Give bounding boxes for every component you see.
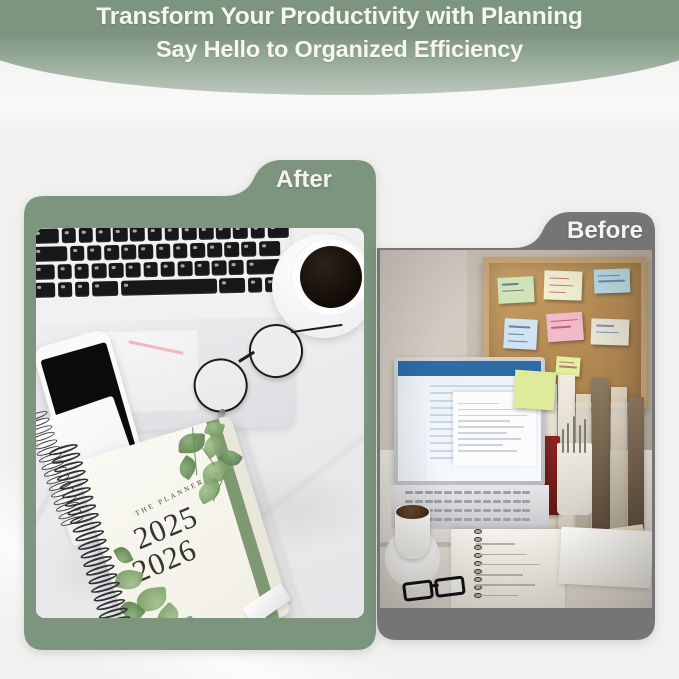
spiral-ring (474, 529, 482, 534)
header-banner: Transform Your Productivity with Plannin… (0, 0, 679, 95)
headline-line-1: Transform Your Productivity with Plannin… (0, 0, 679, 33)
keyboard-key[interactable] (91, 263, 106, 278)
before-keyboard-key[interactable] (454, 500, 462, 503)
open-notebook (451, 529, 565, 608)
handwriting-line (551, 326, 571, 329)
handwriting-line (549, 278, 569, 280)
spiral-ring (474, 545, 482, 550)
keyboard-key[interactable] (229, 260, 244, 275)
handwriting-line (508, 332, 524, 334)
sticky-note (543, 271, 582, 301)
header-text-block: Transform Your Productivity with Plannin… (0, 0, 679, 66)
keyboard-key[interactable] (190, 243, 205, 258)
keyboard-row (36, 277, 280, 298)
before-keyboard-key[interactable] (474, 509, 482, 512)
keyboard-key[interactable] (147, 228, 162, 241)
mug-coffee (396, 505, 429, 519)
keyboard-key[interactable] (219, 278, 245, 294)
comparison-infographic: Transform Your Productivity with Plannin… (0, 0, 679, 679)
keyboard-key[interactable] (259, 241, 280, 257)
handwriting-line (551, 319, 578, 322)
email-body-line (458, 415, 528, 417)
keyboard-key[interactable] (224, 242, 239, 257)
before-keyboard-key[interactable] (522, 500, 530, 503)
sticky-note-on-screen (513, 370, 557, 411)
file-holder (628, 397, 644, 529)
before-keyboard-key[interactable] (454, 491, 462, 494)
email-body-line (458, 444, 504, 446)
spiral-ring (474, 537, 482, 542)
keyboard-key[interactable] (126, 262, 141, 277)
paper-stack (558, 527, 652, 589)
sticky-note (593, 268, 630, 293)
keyboard-key[interactable] (156, 244, 171, 259)
keyboard-key[interactable] (195, 261, 210, 276)
file-holder (611, 387, 627, 529)
before-keyboard-key[interactable] (503, 509, 511, 512)
before-keyboard-key[interactable] (513, 500, 521, 503)
keyboard-key[interactable] (36, 228, 59, 244)
before-keyboard-key[interactable] (483, 518, 491, 521)
before-keyboard-key[interactable] (425, 500, 433, 503)
email-body-line (458, 426, 525, 428)
email-sidebar (398, 376, 427, 481)
keyboard-key[interactable] (199, 228, 214, 240)
keyboard-key[interactable] (70, 246, 85, 261)
before-keyboard-key[interactable] (464, 509, 472, 512)
handwriting-line (598, 274, 620, 276)
before-tab-label: Before (567, 217, 643, 245)
email-body-line (458, 409, 514, 411)
before-keyboard-key[interactable] (415, 491, 423, 494)
keyboard-key[interactable] (36, 282, 55, 298)
before-keyboard-key[interactable] (425, 491, 433, 494)
keyboard-key[interactable] (241, 242, 256, 257)
keyboard-key[interactable] (173, 243, 188, 258)
before-keyboard-key[interactable] (513, 491, 521, 494)
pen-in-cup (562, 429, 564, 453)
keyboard-key[interactable] (216, 228, 231, 240)
file-holder (592, 378, 609, 529)
before-keyboard-key[interactable] (483, 509, 491, 512)
before-keyboard-key[interactable] (493, 500, 501, 503)
before-panel[interactable]: Before (377, 178, 655, 640)
keyboard-key[interactable] (36, 264, 55, 280)
before-keyboard-key[interactable] (464, 518, 472, 521)
before-photo (380, 250, 652, 608)
before-keyboard-key[interactable] (503, 500, 511, 503)
before-keyboard-key[interactable] (522, 509, 530, 512)
keyboard-key[interactable] (36, 246, 67, 262)
keyboard-key[interactable] (250, 228, 265, 239)
before-keyboard-key[interactable] (474, 491, 482, 494)
before-keyboard-key[interactable] (474, 518, 482, 521)
coffee-liquid (300, 246, 362, 308)
keyboard-key[interactable] (130, 228, 145, 242)
keyboard-key[interactable] (104, 245, 119, 260)
email-body-line (458, 450, 518, 452)
before-keyboard-key[interactable] (503, 491, 511, 494)
before-keyboard-key[interactable] (503, 518, 511, 521)
before-keyboard-key[interactable] (493, 518, 501, 521)
handwriting-line (595, 331, 618, 333)
before-keyboard-key[interactable] (483, 500, 491, 503)
keyboard-key[interactable] (92, 281, 118, 297)
sticky-note (546, 312, 584, 342)
before-keyboard-key[interactable] (454, 518, 462, 521)
pen-cup (557, 443, 592, 515)
before-lens-left (402, 579, 434, 602)
keyboard-key[interactable] (75, 282, 90, 297)
sticky-note (590, 318, 629, 346)
before-laptop (391, 357, 549, 529)
laptop-keyboard (36, 228, 282, 323)
after-tab-label: After (276, 166, 332, 194)
keyboard-key[interactable] (138, 244, 153, 259)
before-keyboard-key[interactable] (444, 491, 452, 494)
keyboard-key[interactable] (120, 279, 216, 296)
keyboard-key[interactable] (121, 244, 136, 259)
handwriting-line (595, 324, 614, 326)
keyboard-key[interactable] (109, 263, 124, 278)
keyboard-key[interactable] (267, 228, 288, 238)
handwriting-line (503, 289, 524, 292)
keyboard-key[interactable] (207, 242, 222, 257)
keyboard-key[interactable] (212, 260, 227, 275)
before-keyboard-key[interactable] (434, 491, 442, 494)
before-keyboard-key[interactable] (493, 491, 501, 494)
pen-in-cup (573, 416, 575, 453)
keyboard-key[interactable] (164, 228, 179, 241)
notebook-spiral (474, 529, 482, 603)
notebook-line (476, 595, 518, 596)
sticky-note (498, 276, 536, 304)
pen-in-cup (579, 425, 581, 453)
keyboard-key[interactable] (160, 262, 175, 277)
email-body-line (458, 403, 500, 405)
handwriting-line (559, 361, 574, 363)
spiral-ring (474, 577, 482, 582)
after-panel[interactable]: After (24, 148, 376, 650)
keyboard-key[interactable] (87, 245, 102, 260)
handwriting-line (508, 340, 528, 342)
handwriting-line (509, 325, 531, 328)
before-keyboard-key[interactable] (474, 500, 482, 503)
before-keyboard-key[interactable] (415, 500, 423, 503)
before-keyboard-key[interactable] (493, 509, 501, 512)
keyboard-key[interactable] (78, 228, 93, 243)
notebook-line (476, 574, 523, 575)
before-keyboard-key[interactable] (464, 491, 472, 494)
sticky-note (504, 318, 539, 350)
handwriting-line (502, 283, 519, 285)
keyboard-key[interactable] (233, 228, 248, 239)
before-keyboard-key[interactable] (513, 509, 521, 512)
handwriting-line (598, 280, 625, 282)
before-keyboard-key[interactable] (405, 500, 413, 503)
before-keyboard-key[interactable] (434, 518, 442, 521)
keyboard-key[interactable] (96, 228, 111, 242)
keyboard-row (36, 259, 280, 280)
notebook-line (476, 543, 515, 544)
email-body-line (458, 432, 507, 434)
email-body-line (458, 420, 510, 422)
before-keyboard-key[interactable] (434, 509, 442, 512)
after-photo: THE PLANNER OF 2025 2026 (36, 228, 364, 618)
spiral-ring (474, 585, 482, 590)
notebook-line (476, 554, 527, 555)
before-keyboard-key[interactable] (522, 491, 530, 494)
keyboard-key[interactable] (57, 264, 72, 279)
before-keyboard-key[interactable] (464, 500, 472, 503)
before-keyboard-key[interactable] (405, 491, 413, 494)
before-keyboard-key[interactable] (522, 518, 530, 521)
before-keyboard-key[interactable] (513, 518, 521, 521)
coffee-mug (385, 529, 439, 586)
keyboard-key[interactable] (248, 277, 263, 292)
before-keyboard-key[interactable] (454, 509, 462, 512)
keyboard-key[interactable] (58, 282, 73, 297)
before-keyboard-key[interactable] (444, 518, 452, 521)
before-keyboard-key[interactable] (444, 500, 452, 503)
keyboard-key[interactable] (143, 262, 158, 277)
keyboard-row (36, 241, 280, 262)
notebook-line (476, 564, 540, 565)
headline-line-2: Say Hello to Organized Efficiency (0, 33, 679, 66)
handwriting-line (548, 285, 573, 287)
keyboard-key[interactable] (113, 228, 128, 242)
keyboard-key[interactable] (61, 228, 76, 243)
keyboard-key[interactable] (182, 228, 197, 240)
notebook-line (476, 584, 535, 585)
keyboard-key[interactable] (177, 261, 192, 276)
handwriting-line (548, 292, 566, 294)
before-keyboard-key[interactable] (434, 500, 442, 503)
before-keyboard-key[interactable] (483, 491, 491, 494)
before-lens-right (434, 575, 466, 598)
email-body-line (458, 438, 521, 440)
handwriting-line (559, 366, 577, 369)
keyboard-key[interactable] (74, 264, 89, 279)
before-keyboard-key[interactable] (444, 509, 452, 512)
